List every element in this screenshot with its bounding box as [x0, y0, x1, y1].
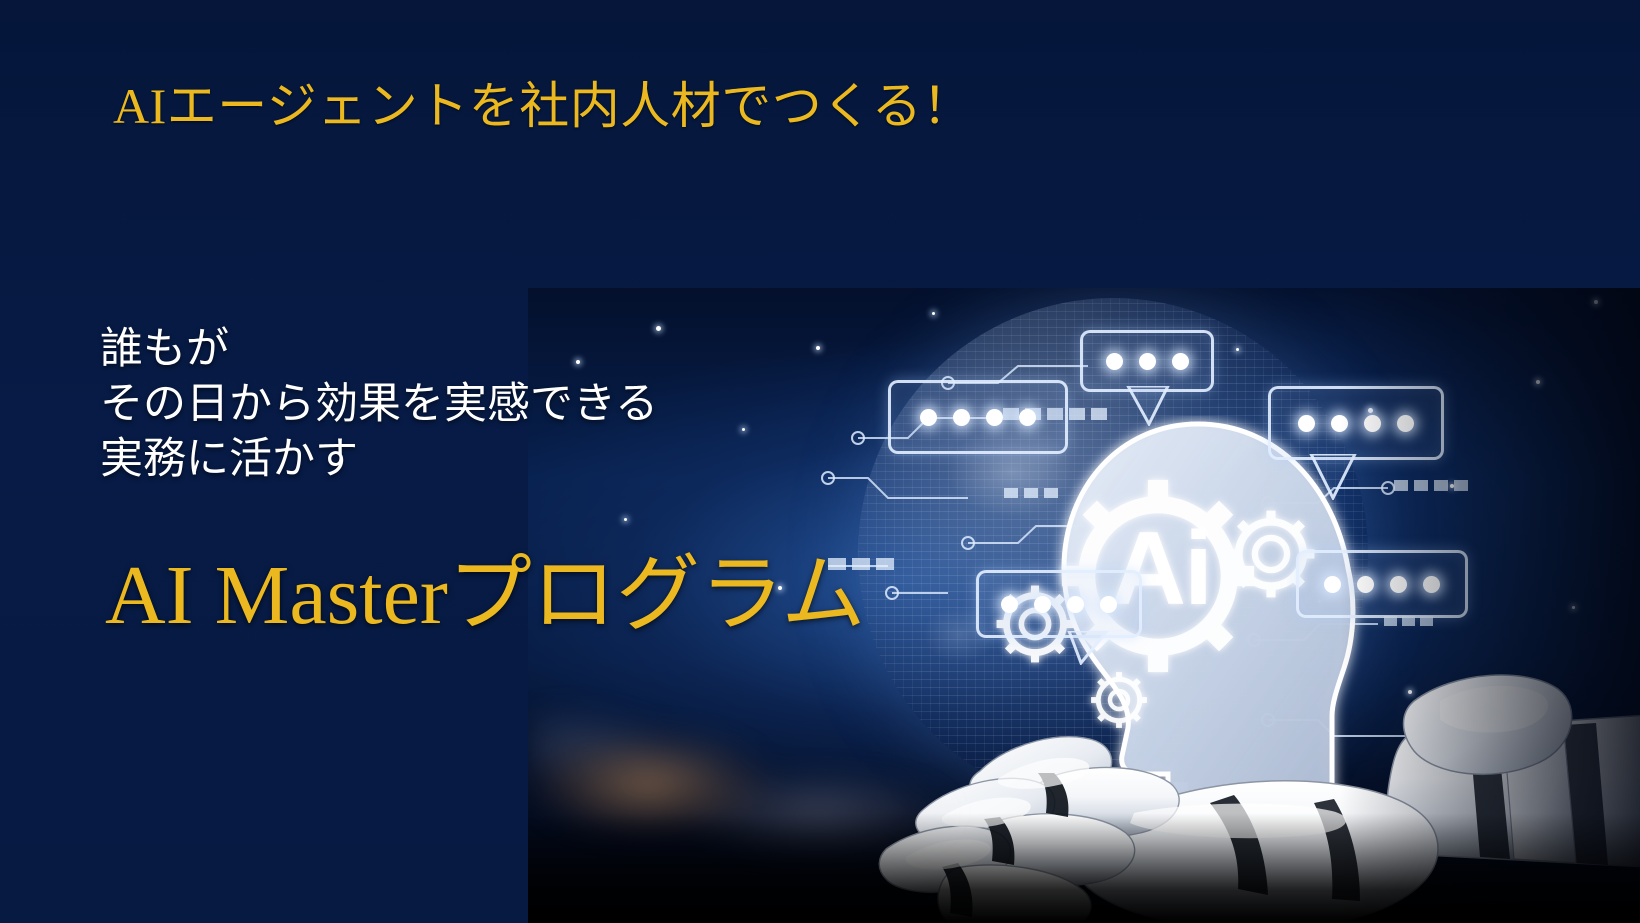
bubble-dot — [1106, 353, 1123, 370]
product-title: AI Masterプログラム — [105, 552, 865, 640]
photo-bottom-vignette — [528, 813, 1640, 923]
subtext-line-3: 実務に活かす — [100, 432, 658, 487]
bubble-dot — [1324, 576, 1341, 593]
bubble-dot — [920, 409, 937, 426]
bubble-left — [888, 380, 1068, 454]
bubble-dot — [953, 409, 970, 426]
subtext-line-1: 誰もが — [100, 322, 658, 377]
bubble-dot — [1139, 353, 1156, 370]
bubble-dot — [1298, 415, 1315, 432]
bubble-dot — [1100, 596, 1117, 613]
bubble-dot — [986, 409, 1003, 426]
bubble-dot — [1019, 409, 1036, 426]
bubble-top-center — [1080, 330, 1214, 392]
bubble-dot — [1172, 353, 1189, 370]
subtext-line-2: その日から効果を実感できる — [100, 377, 658, 432]
bubble-tail-icon — [1125, 386, 1171, 426]
headline: AIエージェントを社内人材でつくる！ — [113, 78, 973, 136]
subtext-block: 誰もが その日から効果を実感できる 実務に活かす — [100, 322, 658, 487]
slide-root: Ai — [0, 0, 1640, 923]
